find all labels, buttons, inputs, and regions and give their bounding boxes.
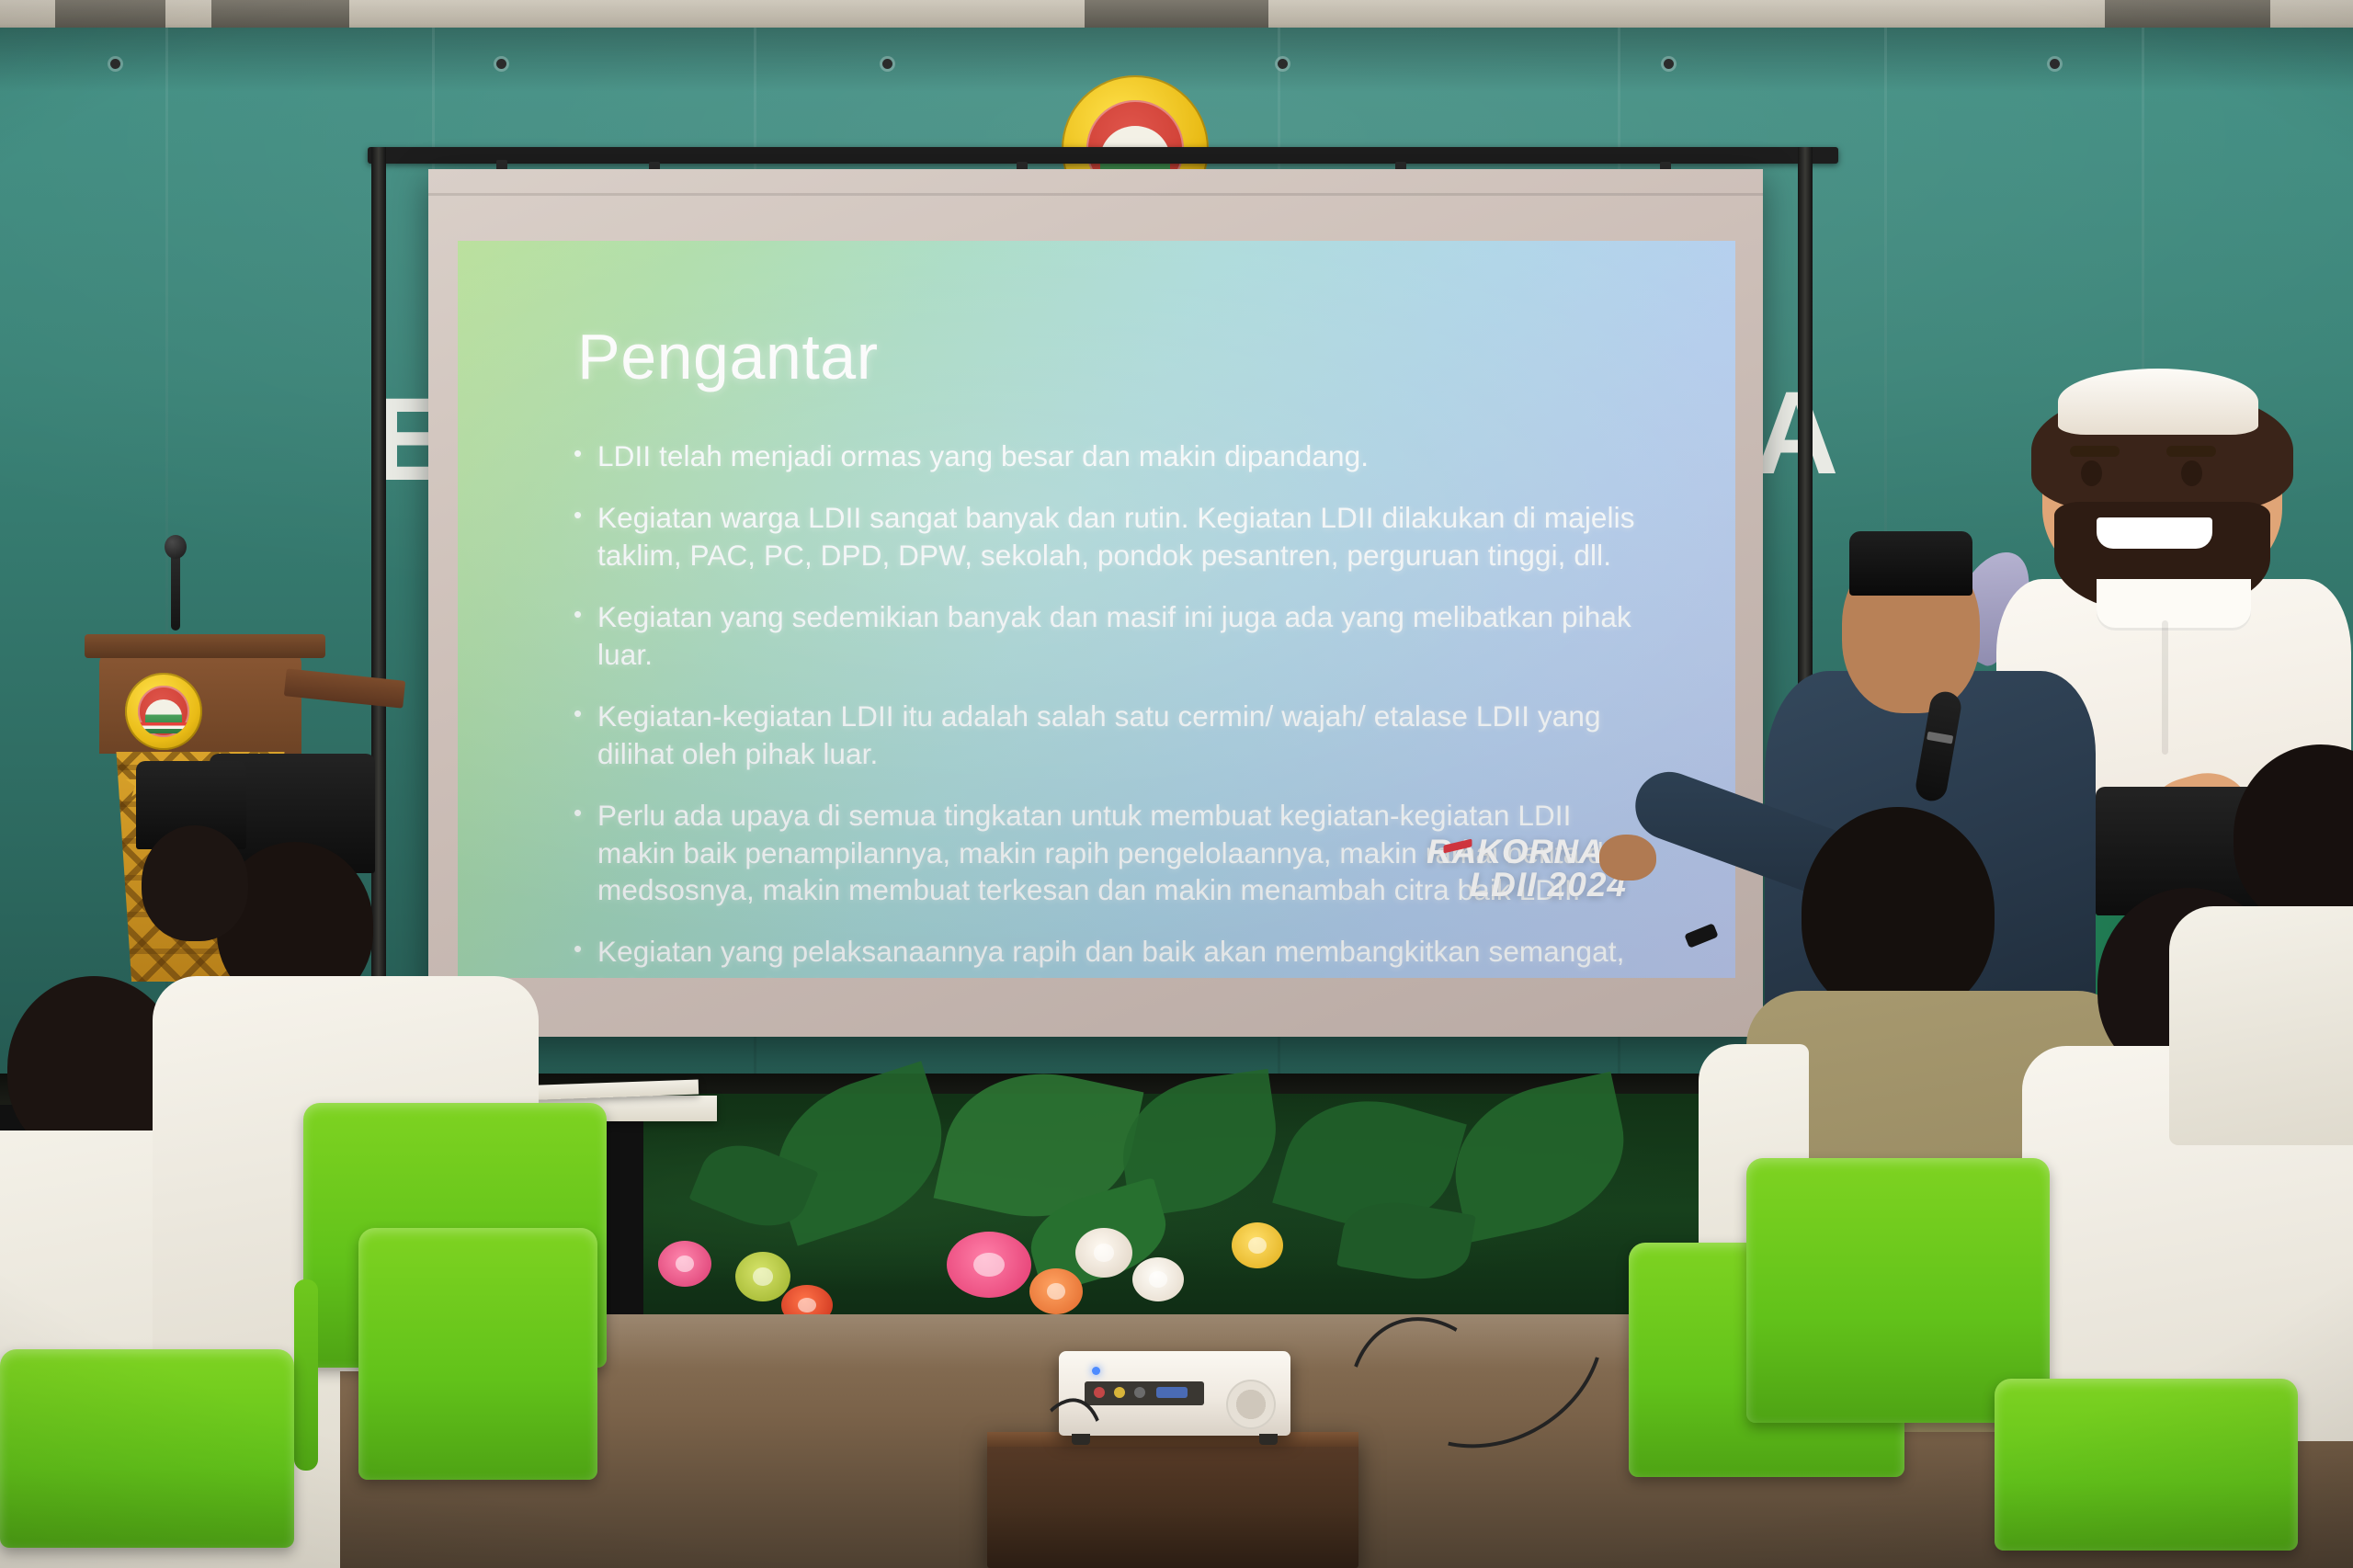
conference-hall-scene: E A <box>0 0 2353 1568</box>
bullet-marker: • <box>574 698 597 730</box>
slide-bullet-4: • Kegiatan-kegiatan LDII itu adalah sala… <box>574 698 1647 773</box>
flower-pink-small <box>658 1241 711 1287</box>
flower-pink-large <box>947 1232 1031 1298</box>
presenter-peci-cap <box>1849 531 1972 596</box>
audience-person-6 <box>2206 744 2353 1131</box>
flower-orange <box>1029 1268 1083 1314</box>
audience-person-3 <box>108 761 301 1000</box>
flower-white-2 <box>1132 1257 1184 1301</box>
ldii-emblem-podium <box>125 673 202 750</box>
rakornas-logo-line2: LDII 2024 <box>1427 869 1627 901</box>
rakornas-logo-line1: RAKORNAS <box>1427 836 1627 868</box>
chair-left-3 <box>358 1228 597 1568</box>
chair-right-3 <box>1995 1379 2298 1568</box>
screen-top-rail <box>368 147 1838 164</box>
bullet-text: LDII telah menjadi ormas yang besar dan … <box>597 437 1647 475</box>
rakornas-logo: RAKORNAS LDII 2024 <box>1427 836 1627 901</box>
bullet-text: Kegiatan warga LDII sangat banyak dan ru… <box>597 499 1647 574</box>
flower-white-1 <box>1075 1228 1132 1278</box>
slide-bullet-1: • LDII telah menjadi ormas yang besar da… <box>574 437 1647 475</box>
presentation-slide: Pengantar • LDII telah menjadi ormas yan… <box>458 241 1735 978</box>
flower-yellow <box>1232 1222 1283 1268</box>
bullet-text: Kegiatan yang sedemikian banyak dan masi… <box>597 598 1647 674</box>
backdrop-letter-right: A <box>1754 375 1836 493</box>
podium-microphone <box>171 551 180 631</box>
slide-bullet-2: • Kegiatan warga LDII sangat banyak dan … <box>574 499 1647 574</box>
bullet-marker: • <box>574 598 597 631</box>
chair-left-2 <box>0 1349 294 1568</box>
slide-title: Pengantar <box>577 320 879 393</box>
bullet-text: Kegiatan-kegiatan LDII itu adalah salah … <box>597 698 1647 773</box>
bullet-marker: • <box>574 437 597 470</box>
slide-bullet-6: • Kegiatan yang pelaksanaannya rapih dan… <box>574 933 1647 978</box>
bullet-marker: • <box>574 797 597 829</box>
flower-lime <box>735 1252 790 1301</box>
bullet-text: Kegiatan yang pelaksanaannya rapih dan b… <box>597 933 1647 978</box>
bullet-marker: • <box>574 933 597 965</box>
slide-bullet-3: • Kegiatan yang sedemikian banyak dan ma… <box>574 598 1647 674</box>
bullet-marker: • <box>574 499 597 531</box>
